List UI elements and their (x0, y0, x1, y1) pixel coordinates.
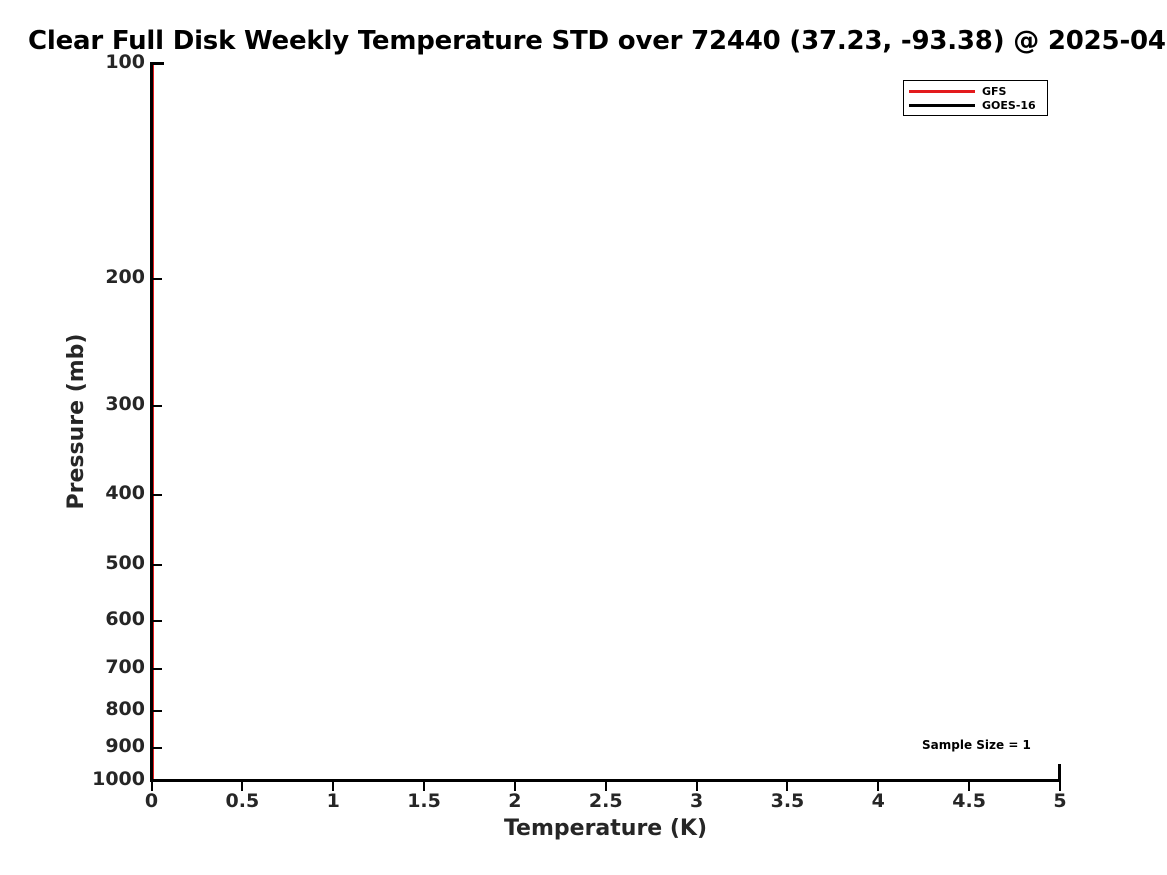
legend-entry-goes16: GOES-16 (909, 99, 1042, 112)
y-tick-label: 400 (105, 482, 145, 504)
y-tick-mark (153, 63, 162, 65)
y-tick-mark (153, 494, 162, 496)
y-axis-label: Pressure (mb) (62, 63, 92, 780)
y-tick-mark (153, 780, 162, 782)
x-tick-label: 4.5 (929, 790, 1009, 812)
y-tick-label: 700 (105, 656, 145, 678)
y-tick-label: 800 (105, 698, 145, 720)
legend-swatch-gfs-icon (909, 90, 975, 93)
y-tick-label: 600 (105, 608, 145, 630)
chart-figure: Clear Full Disk Weekly Temperature STD o… (0, 0, 1167, 875)
x-tick-label: 0.5 (202, 790, 282, 812)
y-tick-mark (153, 405, 162, 407)
right-spine-stub (1058, 764, 1061, 782)
y-tick-mark (153, 564, 162, 566)
chart-title: Clear Full Disk Weekly Temperature STD o… (28, 24, 1167, 58)
legend-entry-gfs: GFS (909, 85, 1042, 98)
y-tick-mark (153, 747, 162, 749)
x-tick-label: 4 (838, 790, 918, 812)
y-tick-label: 500 (105, 552, 145, 574)
chart-legend: GFS GOES-16 (903, 80, 1048, 116)
legend-label-gfs: GFS (982, 86, 1006, 98)
x-axis-label: Temperature (K) (150, 816, 1061, 841)
x-tick-label: 1.5 (384, 790, 464, 812)
y-tick-label: 1000 (92, 768, 145, 790)
legend-swatch-goes16-icon (909, 104, 975, 107)
y-tick-mark (153, 668, 162, 670)
y-tick-label: 900 (105, 735, 145, 757)
y-tick-mark (153, 278, 162, 280)
x-tick-label: 2.5 (566, 790, 646, 812)
x-tick-label: 1 (293, 790, 373, 812)
sample-size-annotation: Sample Size = 1 (922, 738, 1031, 752)
y-tick-label: 100 (105, 51, 145, 73)
x-tick-label: 3 (657, 790, 737, 812)
x-tick-label: 3.5 (747, 790, 827, 812)
plot-area (152, 63, 1060, 780)
y-tick-mark (153, 710, 162, 712)
x-tick-label: 2 (475, 790, 555, 812)
y-tick-label: 200 (105, 266, 145, 288)
x-tick-label: 5 (1020, 790, 1100, 812)
legend-label-goes16: GOES-16 (982, 100, 1036, 112)
y-tick-mark (153, 620, 162, 622)
y-axis-spine (150, 62, 153, 781)
x-tick-label: 0 (112, 790, 192, 812)
y-tick-label: 300 (105, 393, 145, 415)
